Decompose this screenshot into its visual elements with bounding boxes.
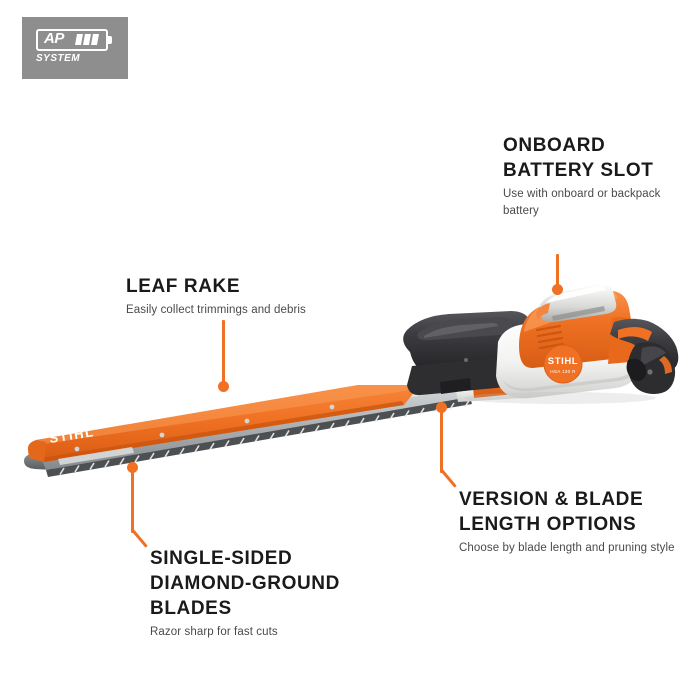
stihl-logo-badge: STIHL HSA 130 R (544, 345, 582, 383)
callout-leaf-rake: LEAF RAKE Easily collect trimmings and d… (126, 274, 356, 319)
callout-single-sided-diamond-ground-blades-subtitle: Razor sharp for fast cuts (150, 624, 390, 641)
leaf-rake-bar: STIHL (28, 385, 420, 465)
callout-onboard-battery-slot-subtitle: Use with onboard or backpack battery (503, 186, 683, 220)
callout-single-sided-diamond-ground-blades-headline: SINGLE-SIDED DIAMOND-GROUND BLADES (150, 546, 390, 621)
callout-version-blade-length-options-headline: VERSION & BLADE LENGTH OPTIONS (459, 487, 681, 537)
svg-text:STIHL: STIHL (548, 356, 578, 367)
pointer-line-leaf-rake (222, 320, 225, 386)
callout-leaf-rake-subtitle: Easily collect trimmings and debris (126, 302, 356, 319)
pointer-dot-leaf-rake (218, 381, 229, 392)
callout-version-blade-length-options-subtitle: Choose by blade length and pruning style (459, 540, 681, 557)
callout-leaf-rake-headline: LEAF RAKE (126, 274, 356, 299)
pointer-line-version-blade-length-options (440, 407, 443, 473)
callout-onboard-battery-slot: ONBOARD BATTERY SLOT Use with onboard or… (503, 133, 683, 220)
svg-text:HSA 130 R: HSA 130 R (550, 369, 576, 374)
pointer-dot-onboard-battery-slot (552, 284, 563, 295)
callout-single-sided-diamond-ground-blades: SINGLE-SIDED DIAMOND-GROUND BLADES Razor… (150, 546, 390, 641)
infographic-canvas: AP SYSTEM (0, 0, 692, 692)
pointer-line-single-sided-diamond-ground-blades (131, 467, 134, 533)
callout-version-blade-length-options: VERSION & BLADE LENGTH OPTIONS Choose by… (459, 487, 681, 557)
callout-onboard-battery-slot-headline: ONBOARD BATTERY SLOT (503, 133, 683, 183)
